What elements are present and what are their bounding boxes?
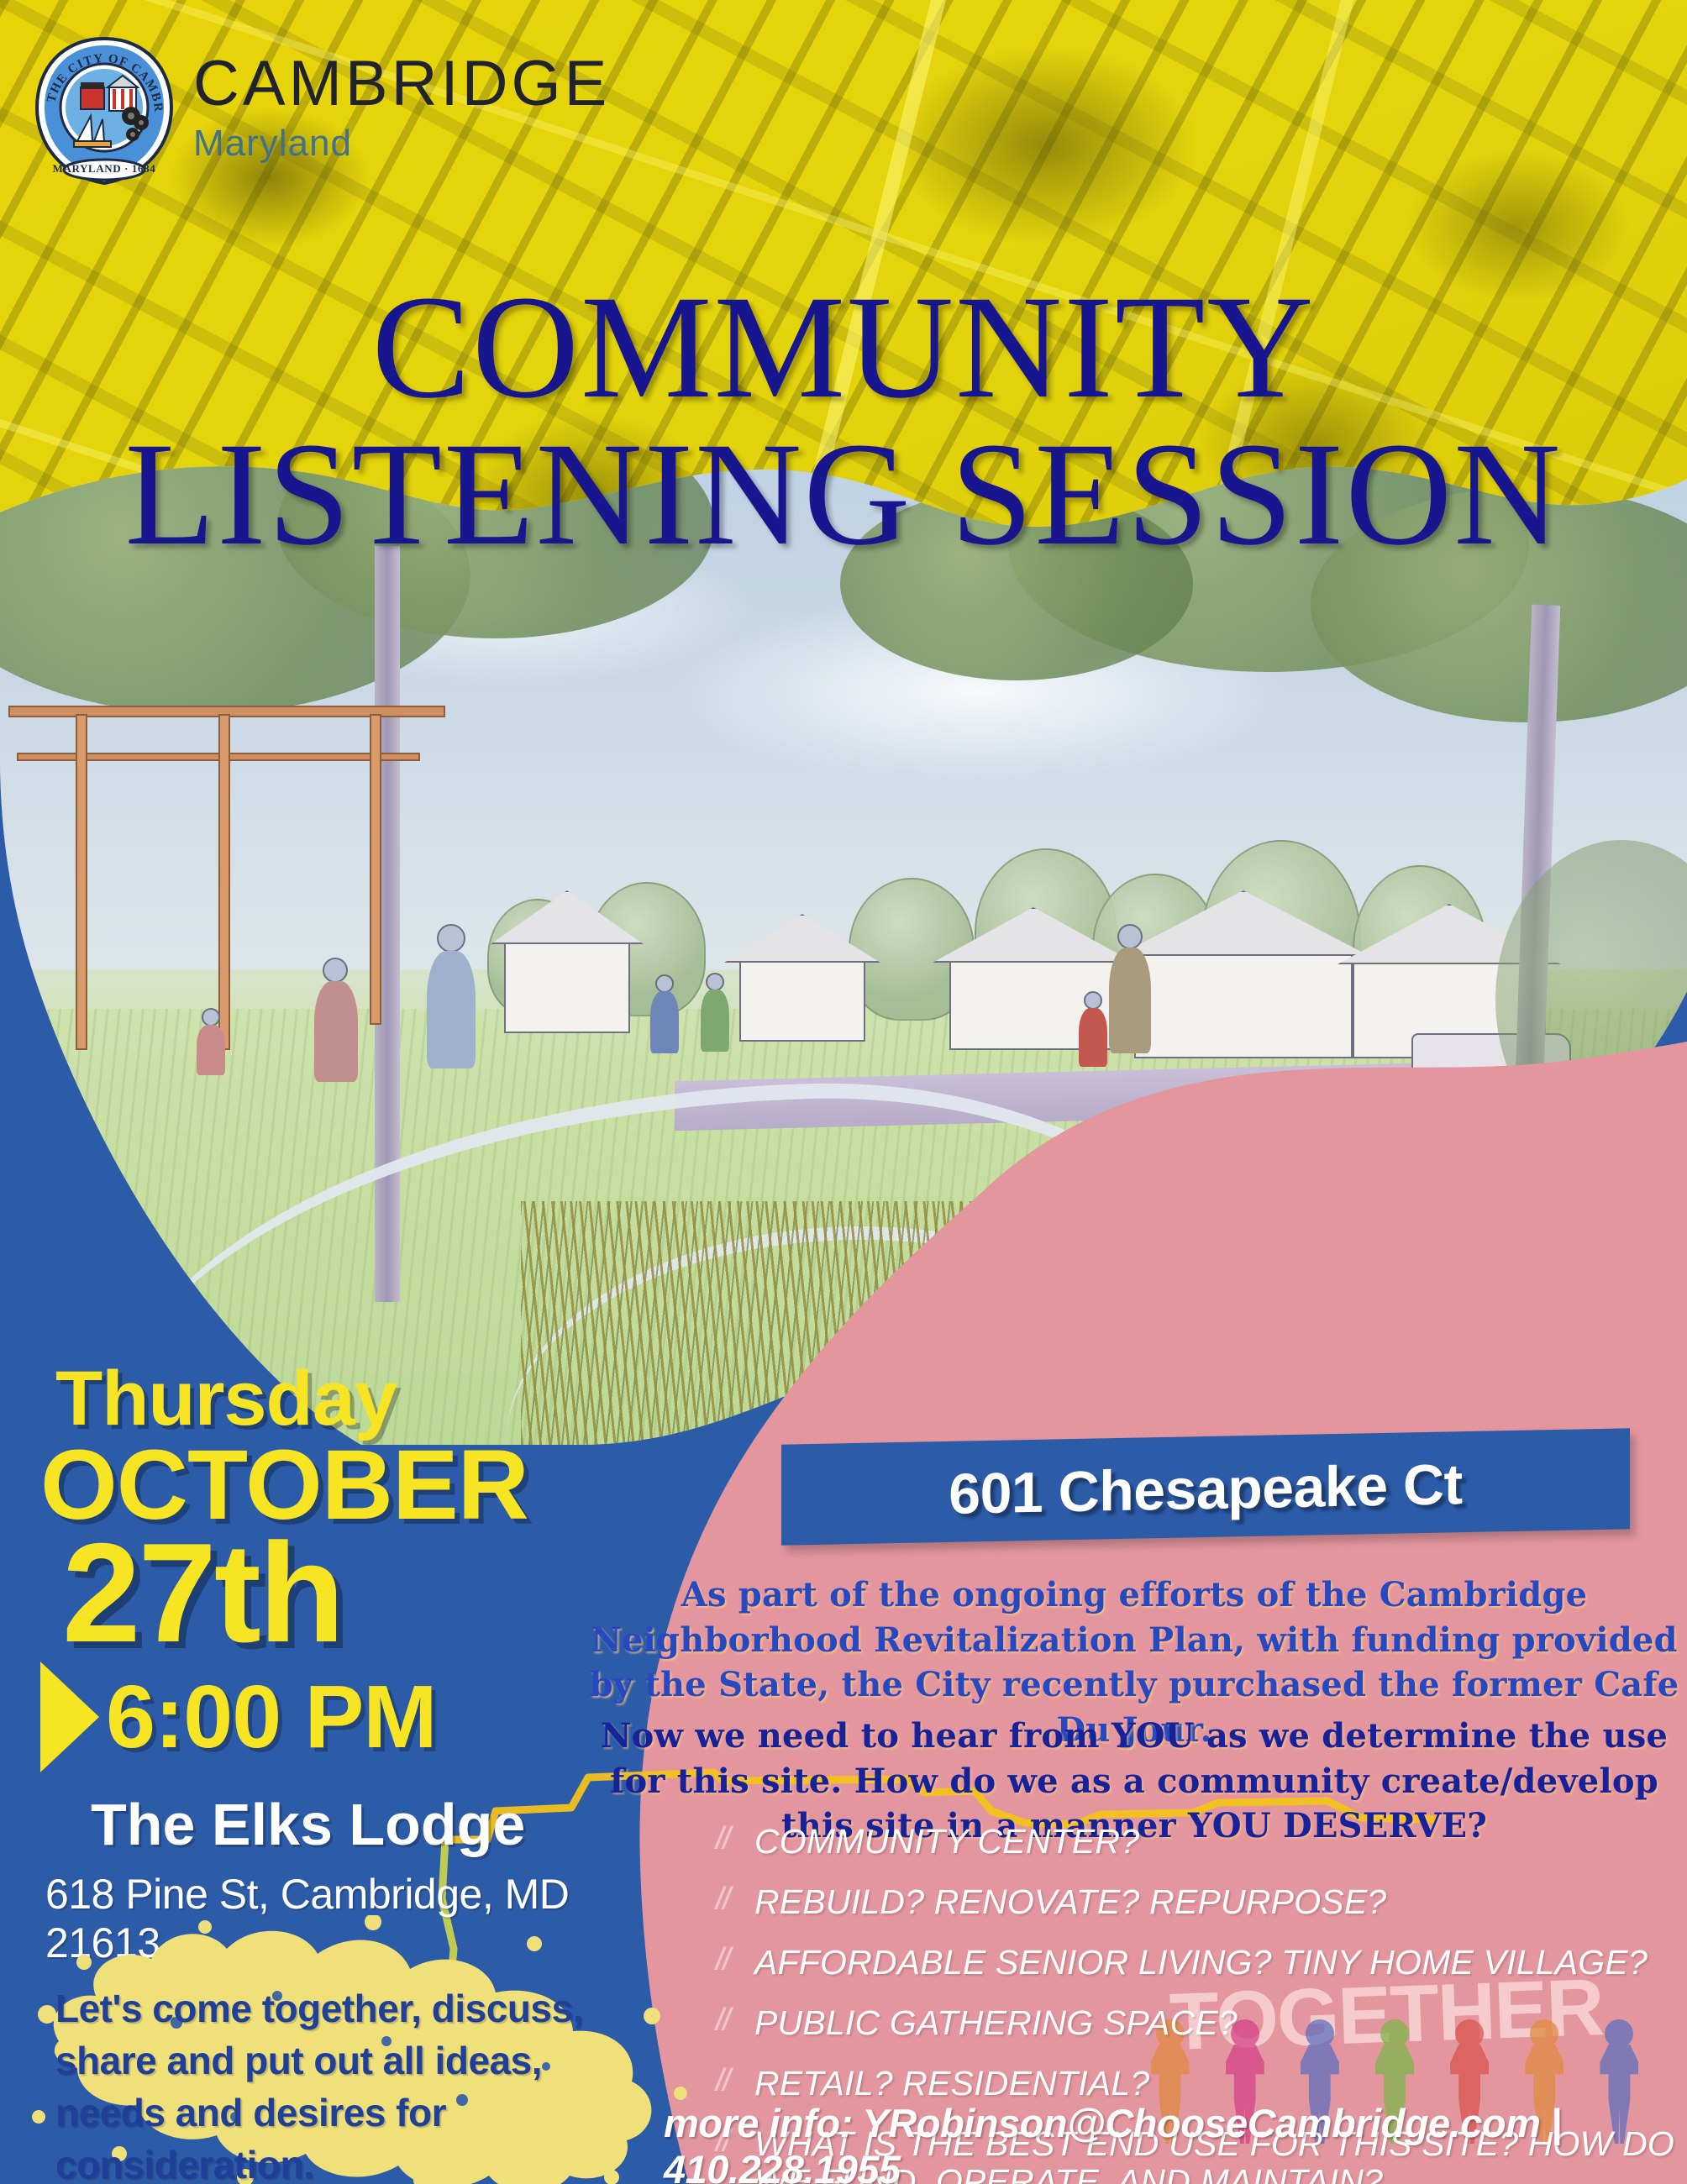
list-item: ll RETAIL? RESIDENTIAL? — [716, 2065, 1682, 2103]
event-time: 6:00 PM — [106, 1672, 437, 1761]
title-line-2: LISTENING SESSION — [0, 424, 1687, 564]
question-text: REBUILD? RENOVATE? REPURPOSE? — [754, 1883, 1386, 1922]
question-text: COMMUNITY CENTER? — [754, 1823, 1139, 1861]
list-item: ll REBUILD? RENOVATE? REPURPOSE? — [716, 1883, 1682, 1922]
handwritten-note: Let's come together, discuss, share and … — [55, 1982, 644, 2184]
site-address-banner: 601 Chesapeake Ct — [781, 1431, 1630, 1547]
list-item: ll COMMUNITY CENTER? — [716, 1823, 1682, 1861]
list-item: ll AFFORDABLE SENIOR LIVING? TINY HOME V… — [716, 1944, 1682, 1982]
event-day: 27th — [62, 1528, 645, 1658]
list-item: ll PUBLIC GATHERING SPACE? — [716, 2004, 1682, 2043]
brand-state: Maryland — [193, 123, 610, 165]
question-text: RETAIL? RESIDENTIAL? — [754, 2065, 1149, 2103]
poster-canvas: THE CITY OF CAMBRIDGE MARYLAND · 1684 CA… — [0, 0, 1687, 2184]
slash-bullet-icon: ll — [712, 2065, 758, 2097]
question-text: PUBLIC GATHERING SPACE? — [754, 2004, 1238, 2043]
slash-bullet-icon: ll — [712, 2004, 758, 2036]
play-triangle-icon — [40, 1662, 99, 1772]
page-title: COMMUNITY LISTENING SESSION — [0, 277, 1687, 564]
slash-bullet-icon: ll — [712, 1944, 758, 1976]
brand-wordmark: CAMBRIDGE Maryland — [193, 52, 610, 165]
event-venue: The Elks Lodge — [91, 1791, 645, 1858]
slash-bullet-icon: ll — [712, 1883, 758, 1915]
question-text: AFFORDABLE SENIOR LIVING? TINY HOME VILL… — [754, 1944, 1648, 1982]
title-line-1: COMMUNITY — [0, 277, 1687, 417]
event-details-block: Thursday OCTOBER 27th 6:00 PM The Elks L… — [40, 1361, 645, 1967]
brand-name: CAMBRIDGE — [193, 52, 610, 116]
city-seal-logo: THE CITY OF CAMBRIDGE MARYLAND · 1684 — [29, 35, 180, 186]
event-weekday: Thursday — [55, 1361, 645, 1436]
slash-bullet-icon: ll — [712, 1823, 758, 1855]
svg-text:MARYLAND · 1684: MARYLAND · 1684 — [53, 162, 156, 175]
more-info-contact: more info: YRobinson@ChooseCambridge.com… — [664, 2100, 1680, 2184]
